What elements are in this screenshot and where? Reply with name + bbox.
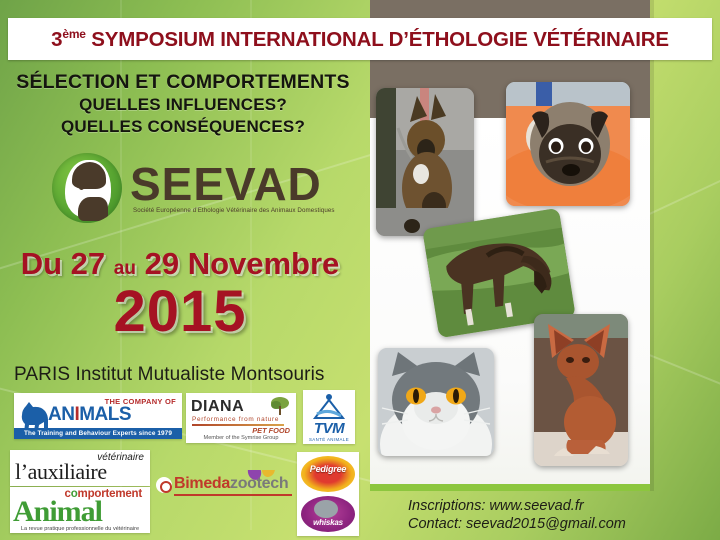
seevad-logo: SEEVAD Société Européenne d’Ethologie Vé…: [52, 152, 352, 224]
page-title: 3ème SYMPOSIUM INTERNATIONAL D’ÉTHOLOGIE…: [51, 27, 669, 52]
title-ordinal-suffix: ème: [62, 27, 85, 41]
subtitle-line-3: QUELLES CONSÉQUENCES?: [0, 116, 366, 138]
sponsor-logo-company-of-animals: THE COMPANY OF ANIMALS The Training and …: [14, 393, 182, 439]
bimeda-part1: Bimeda: [174, 475, 230, 492]
coa-part3: MALS: [79, 404, 131, 425]
diana-wordmark: DIANA: [191, 398, 244, 416]
anim-tagline: La revue pratique professionnelle du vét…: [10, 526, 150, 532]
title-banner: 3ème SYMPOSIUM INTERNATIONAL D’ÉTHOLOGIE…: [8, 18, 712, 60]
pedigree-wordmark: Pedigree: [297, 464, 359, 474]
whiskas-wordmark: whiskas: [297, 518, 359, 527]
sponsor-logo-comportement-animal: comportement Animal La revue pratique pr…: [10, 487, 150, 533]
tvm-subline: SANTÉ ANIMALE: [303, 437, 355, 442]
panel-edge-shadow: [650, 0, 654, 491]
pedigree-badge: [301, 456, 355, 492]
diana-segment: PET FOOD: [252, 426, 290, 435]
sponsor-logo-auxiliaire-veterinaire: vétérinaire l’auxiliaire: [10, 450, 150, 486]
panel-accent-bar: [370, 484, 650, 491]
b-circle-icon: [156, 477, 172, 493]
pyramid-icon: [311, 394, 347, 422]
contact-block: Inscriptions: www.seevad.fr Contact: see…: [408, 497, 626, 533]
date-day-end: 29: [145, 246, 179, 281]
title-main: SYMPOSIUM INTERNATIONAL D’ÉTHOLOGIE VÉTÉ…: [91, 27, 669, 50]
registration-line[interactable]: Inscriptions: www.seevad.fr: [408, 497, 626, 515]
venue-text: PARIS Institut Mutualiste Montsouris: [14, 364, 325, 386]
date-prefix: Du: [21, 246, 62, 281]
contact-email-line[interactable]: Contact: seevad2015@gmail.com: [408, 515, 626, 533]
subtitle-line-1: SÉLECTION ET COMPORTEMENTS: [0, 70, 366, 94]
sponsor-logo-diana: DIANA Performance from nature PET FOOD M…: [186, 393, 296, 443]
exotic-shorthair-cat-photo: [378, 348, 494, 456]
diana-subline: Performance from nature: [192, 416, 279, 423]
coa-part1: AN: [48, 404, 74, 425]
diana-member-line: Member of the Symrise Group: [186, 435, 296, 441]
date-joiner: au: [114, 258, 136, 279]
event-date-line: Du 27 au 29 Novembre: [0, 246, 360, 282]
subtitle-block: SÉLECTION ET COMPORTEMENTS QUELLES INFLU…: [0, 70, 366, 138]
tvm-wordmark: TVM: [303, 420, 355, 437]
coa-wordmark: ANIMALS: [48, 404, 131, 426]
bimeda-wordmark: Bimedazootech: [174, 475, 288, 493]
title-ordinal: 3: [51, 27, 62, 50]
event-year: 2015: [0, 278, 360, 345]
pug-photo: [506, 82, 630, 206]
bimeda-part2: zootech: [230, 475, 288, 492]
tree-icon: [270, 396, 290, 416]
coa-tagline: The Training and Behaviour Experts since…: [14, 428, 182, 439]
aux-wordmark: l’auxiliaire: [15, 459, 107, 485]
dog-malinois-photo: [376, 88, 474, 236]
sphynx-cat-photo: [534, 314, 628, 466]
seevad-tagline: Société Européenne d’Ethologie Vétérinai…: [133, 207, 335, 214]
date-day-start: 27: [71, 246, 105, 281]
anim-wordmark: Animal: [13, 495, 102, 529]
sponsor-logo-pedigree-whiskas: Pedigree whiskas: [297, 452, 359, 536]
date-month: Novembre: [188, 246, 340, 281]
sponsor-logo-bimeda-zootech: Bimedazootech: [156, 470, 302, 500]
globe-woman-profile-icon: [52, 153, 122, 223]
poster-canvas: 3ème SYMPOSIUM INTERNATIONAL D’ÉTHOLOGIE…: [0, 0, 720, 540]
sponsor-logo-tvm: TVM SANTÉ ANIMALE: [303, 390, 355, 444]
seevad-wordmark: SEEVAD: [130, 162, 335, 206]
cat-face-icon: [314, 500, 338, 518]
subtitle-line-2: QUELLES INFLUENCES?: [0, 94, 366, 116]
